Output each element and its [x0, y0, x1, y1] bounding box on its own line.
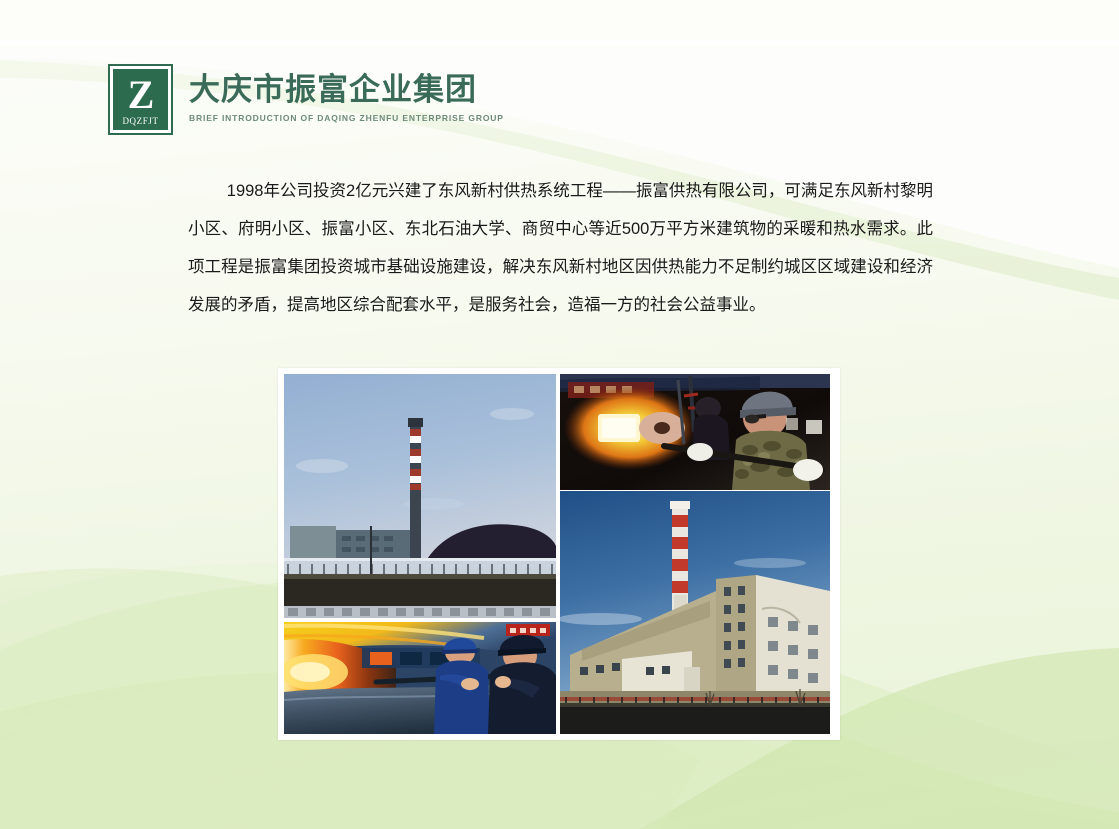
body-copy: 1998年公司投资2亿元兴建了东风新村供热系统工程——振富供热有限公司，可满足东… [188, 172, 933, 324]
top-white-divider [0, 40, 1119, 45]
logo-inner-block: Z DQZFJT [113, 69, 168, 130]
dqzfjt-logo: Z DQZFJT [108, 64, 173, 135]
company-name-cn: 大庆市振富企业集团 [189, 72, 504, 108]
photo-top-left [284, 374, 556, 618]
top-cream-strip [0, 0, 1119, 40]
logo-abbreviation-text: DQZFJT [113, 116, 168, 126]
intro-paragraph: 1998年公司投资2亿元兴建了东风新村供热系统工程——振富供热有限公司，可满足东… [188, 172, 933, 324]
brand-header: Z DQZFJT 大庆市振富企业集团 BRIEF INTRODUCTION OF… [108, 64, 504, 135]
photo-top-right-art [560, 374, 830, 490]
slide-page: Z DQZFJT 大庆市振富企业集团 BRIEF INTRODUCTION OF… [0, 0, 1119, 829]
photo-bottom-right-art [560, 491, 830, 734]
photo-top-right [560, 374, 830, 490]
photo-top-left-art [284, 374, 556, 618]
photo-collage [278, 368, 840, 740]
company-name-en: BRIEF INTRODUCTION OF DAQING ZHENFU ENTE… [189, 113, 504, 123]
photo-bottom-right [560, 491, 830, 734]
logo-letter-z: Z [128, 75, 154, 115]
photo-bottom-left [284, 622, 556, 734]
brand-text-block: 大庆市振富企业集团 BRIEF INTRODUCTION OF DAQING Z… [189, 64, 504, 123]
photo-bottom-left-art [284, 622, 556, 734]
